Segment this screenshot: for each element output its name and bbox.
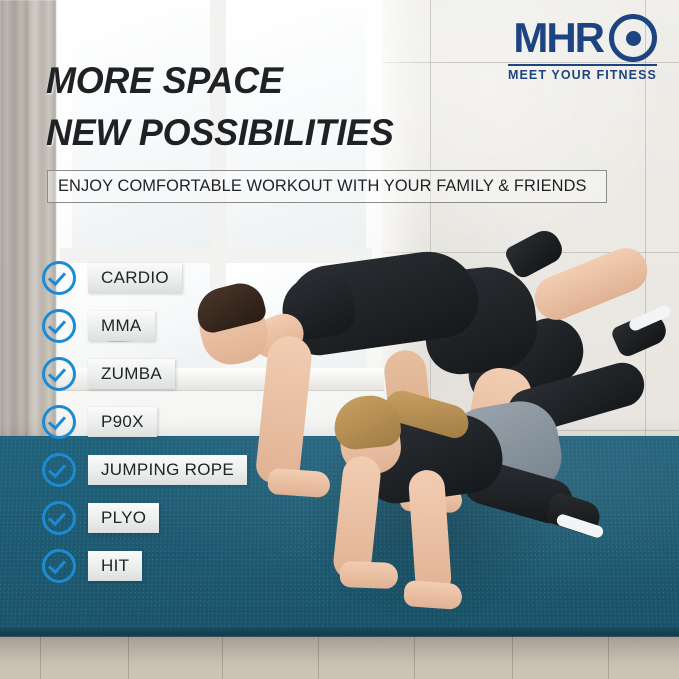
check-circle-icon <box>42 549 76 583</box>
man-left-hand <box>267 468 331 498</box>
feature-label: MMA <box>88 311 155 342</box>
list-item: CARDIO <box>42 263 247 293</box>
logo-tagline: MEET YOUR FITNESS <box>508 68 657 82</box>
feature-label: JUMPING ROPE <box>88 455 247 486</box>
list-item: MMA <box>42 311 247 341</box>
logo-divider <box>508 64 657 66</box>
list-item: PLYO <box>42 503 247 533</box>
check-circle-icon <box>42 405 76 439</box>
woman-right-hand <box>403 580 463 610</box>
page-title: MORE SPACE NEW POSSIBILITIES <box>46 58 394 156</box>
logo-wordmark: MHR <box>513 17 603 59</box>
target-icon <box>609 14 657 62</box>
check-circle-icon <box>42 453 76 487</box>
check-circle-icon <box>42 309 76 343</box>
check-circle-icon <box>42 261 76 295</box>
mat-edge <box>0 627 679 636</box>
list-item: P90X <box>42 407 247 437</box>
product-banner: MHR MEET YOUR FITNESS MORE SPACE NEW POS… <box>0 0 679 679</box>
list-item: JUMPING ROPE <box>42 455 247 485</box>
target-icon-center <box>626 31 641 46</box>
feature-label: ZUMBA <box>88 359 175 390</box>
logo-mark-row: MHR <box>508 14 657 62</box>
feature-label: P90X <box>88 407 157 438</box>
woman-left-hand <box>340 561 399 589</box>
list-item: ZUMBA <box>42 359 247 389</box>
feature-label: HIT <box>88 551 142 582</box>
brand-logo[interactable]: MHR MEET YOUR FITNESS <box>508 14 657 82</box>
check-circle-icon <box>42 357 76 391</box>
feature-label: PLYO <box>88 503 159 534</box>
headline-line-2: NEW POSSIBILITIES <box>46 110 394 157</box>
window-mullion <box>60 248 372 263</box>
headline-line-1: MORE SPACE <box>46 58 394 105</box>
feature-label: CARDIO <box>88 263 182 294</box>
list-item: HIT <box>42 551 247 581</box>
subtitle-banner: ENJOY COMFORTABLE WORKOUT WITH YOUR FAMI… <box>47 170 607 203</box>
check-circle-icon <box>42 501 76 535</box>
feature-list: CARDIO MMA ZUMBA P90X JUMPING ROPE PLYO … <box>42 263 247 599</box>
subtitle-text: ENJOY COMFORTABLE WORKOUT WITH YOUR FAMI… <box>48 177 587 196</box>
